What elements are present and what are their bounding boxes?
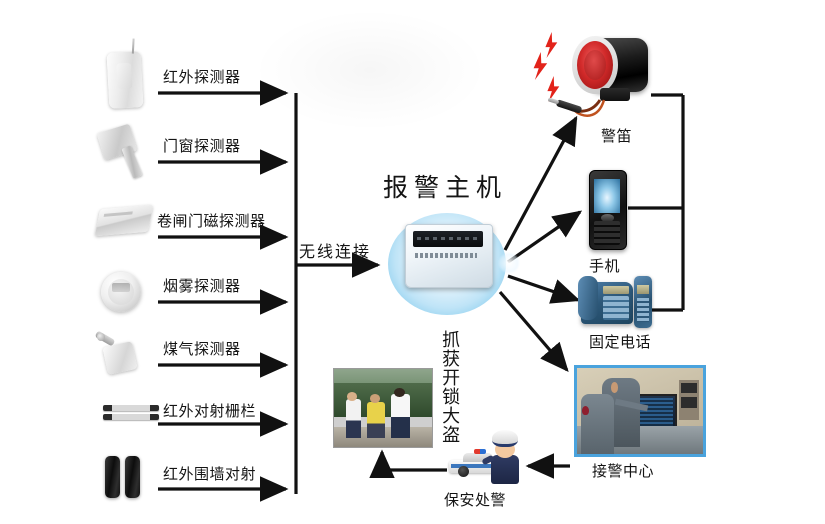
output-label-2: 固定电话	[589, 331, 651, 352]
mobile-phone-icon	[589, 170, 627, 250]
cordless-handset-icon	[634, 276, 652, 328]
alarm-center-photo	[574, 365, 706, 457]
response-label-0: 保安处警	[444, 489, 506, 510]
output-label-3: 接警中心	[592, 460, 654, 481]
output-label-1: 手机	[589, 255, 620, 276]
landline-phone-icon	[581, 282, 633, 324]
capture-photo	[333, 368, 433, 448]
output-label-0: 警笛	[601, 125, 632, 146]
diagram-canvas: 红外探测器 门窗探测器 卷闸门磁探测器 烟雾探测器 煤气探测器 红外对射栅栏 红…	[0, 0, 825, 524]
police-officer-icon	[486, 430, 524, 484]
capture-label: 抓获开锁大盗	[440, 330, 459, 444]
